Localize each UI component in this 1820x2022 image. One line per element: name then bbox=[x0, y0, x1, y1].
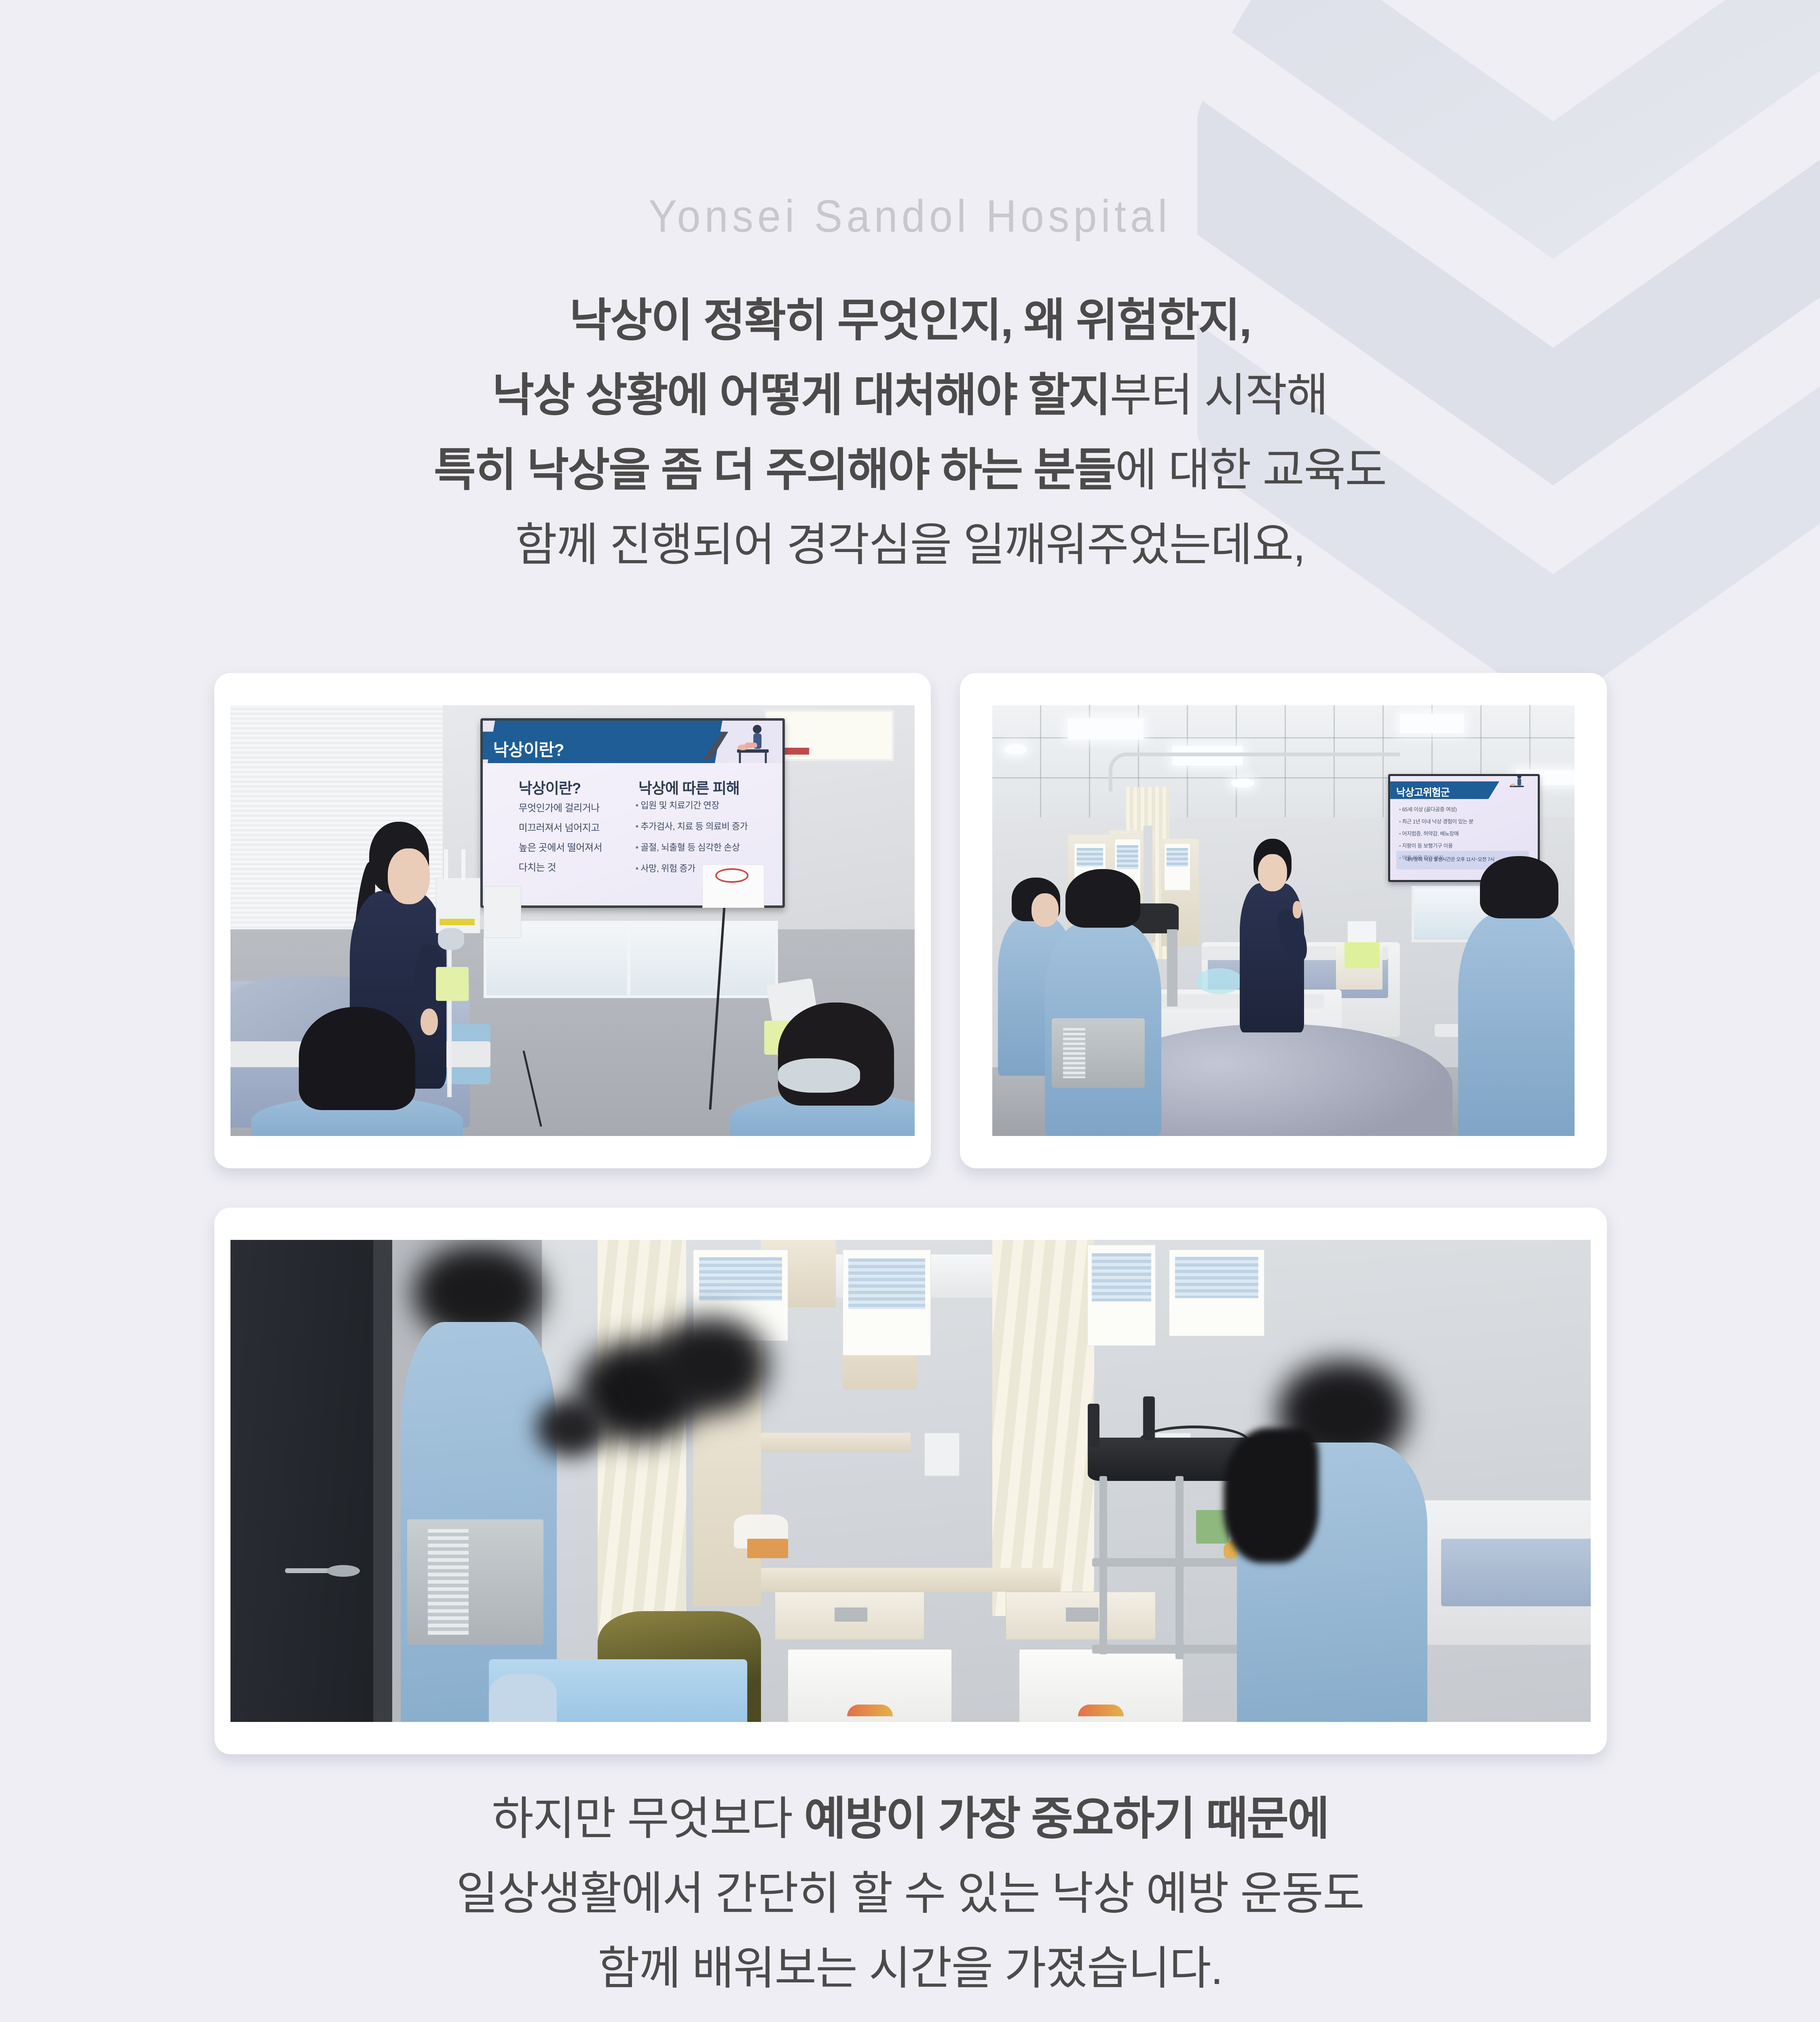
slide-left-line: 미끄러져서 넘어지고 bbox=[518, 820, 602, 834]
slide-bullet: 입원 및 치료기간 연장 bbox=[635, 798, 748, 811]
door-handle bbox=[285, 1563, 360, 1580]
slide-illustration-2 bbox=[1505, 776, 1528, 793]
slide2-bullet: 최근 1년 이내 낙상 경험이 있는 분 bbox=[1399, 817, 1473, 825]
intro-copy-block: 낙상이 정확히 무엇인지, 왜 위험한지, 낙상 상황에 어떻게 대처해야 할지… bbox=[0, 283, 1820, 582]
slide-heading-right: 낙상에 따른 피해 bbox=[638, 776, 740, 798]
photo-ward-group bbox=[230, 1240, 1591, 1722]
photo-classroom-lecture: 낙상이란? 낙상이란? 낙상에 따른 피해 bbox=[230, 705, 915, 1136]
blurred-face bbox=[537, 1399, 605, 1457]
copy-line-7: 함께 배워보는 시간을 가졌습니다. bbox=[0, 1931, 1820, 2006]
copy-line-2: 낙상 상황에 어떻게 대처해야 할지부터 시작해 bbox=[0, 358, 1820, 433]
audience-figure-c bbox=[1458, 856, 1575, 1136]
copy-line-3: 특히 낙상을 좀 더 주의해야 하는 분들에 대한 교육도 bbox=[0, 433, 1820, 508]
page-eyebrow: Yonsei Sandol Hospital bbox=[64, 190, 1757, 242]
slide2-bullet: 65세 이상 (골다공증 여성) bbox=[1399, 805, 1473, 813]
copy-line-5: 하지만 무엇보다 예방이 가장 중요하기 때문에 bbox=[0, 1781, 1820, 1856]
slide-title-2: 낙상고위험군 bbox=[1396, 785, 1450, 799]
photo-card-1: 낙상이란? 낙상이란? 낙상에 따른 피해 bbox=[214, 673, 931, 1168]
presenter-figure-2 bbox=[1237, 839, 1307, 1032]
photo-ward-lecture: 낙상고위험군 65세 이상 (골다공증 여성) 최근 1년 이내 낙상 경험이 … bbox=[992, 705, 1575, 1136]
audience-figure-b bbox=[1045, 869, 1161, 1136]
slide-bullet: 골절, 뇌출혈 등 심각한 손상 bbox=[635, 840, 748, 853]
slide-heading-left: 낙상이란? bbox=[518, 776, 581, 798]
slide-illustration-1 bbox=[725, 721, 779, 767]
slide-left-line: 높은 곳에서 떨어져서 bbox=[518, 840, 602, 854]
slide-left-line: 무엇인가에 걸리거나 bbox=[518, 800, 602, 814]
photo-frame-3 bbox=[230, 1240, 1591, 1722]
slide-left-lines: 무엇인가에 걸리거나 미끄러져서 넘어지고 높은 곳에서 떨어져서 다치는 것 bbox=[518, 800, 602, 879]
copy-line-1: 낙상이 정확히 무엇인지, 왜 위험한지, bbox=[0, 283, 1820, 358]
slide-left-line: 다치는 것 bbox=[518, 859, 602, 874]
slide2-bullet: 지팡이 등 보행기구 이용 bbox=[1399, 842, 1473, 849]
copy-line-6: 일상생활에서 간단히 할 수 있는 낙상 예방 운동도 bbox=[0, 1856, 1820, 1931]
copy-line-4: 함께 진행되어 경각심을 일깨워주었는데요, bbox=[0, 508, 1820, 582]
slide-title-1: 낙상이란? bbox=[493, 736, 564, 761]
blurred-face bbox=[652, 1317, 768, 1413]
photo-frame-2: 낙상고위험군 65세 이상 (골다공증 여성) 최근 1년 이내 낙상 경험이 … bbox=[992, 705, 1575, 1136]
photo-card-2: 낙상고위험군 65세 이상 (골다공증 여성) 최근 1년 이내 낙상 경험이 … bbox=[960, 673, 1607, 1168]
slide-bullet: 추가검사, 치료 등 의료비 증가 bbox=[635, 819, 748, 832]
slide2-bullet: 어지럼증, 허약감, 배뇨장애 bbox=[1399, 829, 1473, 837]
photo-frame-1: 낙상이란? 낙상이란? 낙상에 따른 피해 bbox=[230, 705, 915, 1136]
photo-card-3 bbox=[214, 1208, 1607, 1754]
poster-page: Yonsei Sandol Hospital 낙상이 정확히 무엇인지, 왜 위… bbox=[0, 0, 1820, 2022]
outro-copy-block: 하지만 무엇보다 예방이 가장 중요하기 때문에 일상생활에서 간단히 할 수 … bbox=[0, 1781, 1820, 2006]
